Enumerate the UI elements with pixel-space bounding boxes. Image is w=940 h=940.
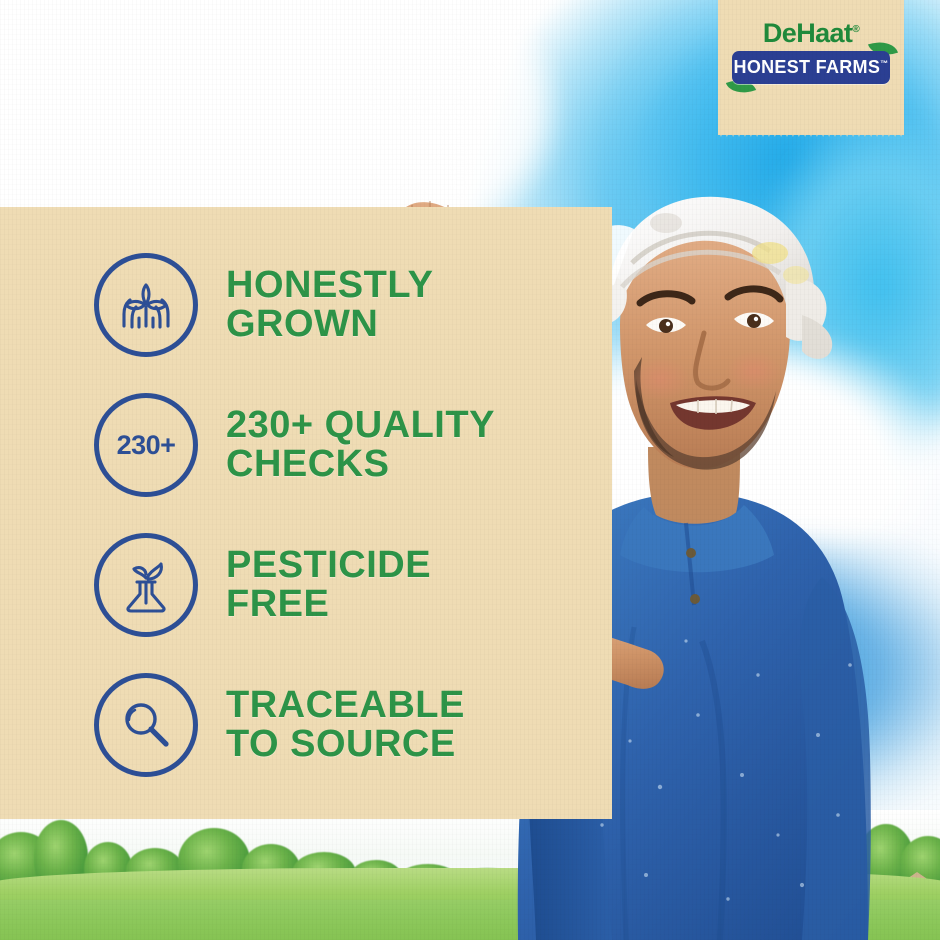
feature-line-1: 230+ QUALITY <box>226 406 495 445</box>
registered-mark: ® <box>852 24 859 35</box>
quality-checks-count-label: 230+ <box>117 430 176 461</box>
quality-checks-count-icon: 230+ <box>94 393 198 497</box>
brand-subname-text: HONEST FARMS™ <box>734 57 889 78</box>
hands-holding-sprout-icon <box>94 253 198 357</box>
feature-list: HONESTLY GROWN 230+ 230+ QUALITY CHECKS <box>0 207 612 819</box>
feature-item-quality-checks: 230+ 230+ QUALITY CHECKS <box>94 393 495 497</box>
feature-item-traceable-to-source: TRACEABLE TO SOURCE <box>94 673 465 777</box>
feature-item-honestly-grown: HONESTLY GROWN <box>94 253 433 357</box>
feature-line-2: CHECKS <box>226 445 495 484</box>
feature-label: HONESTLY GROWN <box>226 266 433 344</box>
brand-subname-banner: HONEST FARMS™ <box>732 51 890 84</box>
brand-logo-card: DeHaat® HONEST FARMS™ <box>718 0 904 135</box>
feature-label: 230+ QUALITY CHECKS <box>226 406 495 484</box>
feature-line-2: TO SOURCE <box>226 725 465 764</box>
feature-line-1: HONESTLY <box>226 266 433 305</box>
feature-line-1: PESTICIDE <box>226 546 431 585</box>
feature-label: PESTICIDE FREE <box>226 546 431 624</box>
trademark-mark: ™ <box>880 59 888 68</box>
poster-canvas: HONESTLY GROWN 230+ 230+ QUALITY CHECKS <box>0 0 940 940</box>
feature-label: TRACEABLE TO SOURCE <box>226 686 465 764</box>
feature-line-2: FREE <box>226 585 431 624</box>
feature-line-1: TRACEABLE <box>226 686 465 725</box>
flask-sprout-icon <box>94 533 198 637</box>
brand-name-text: DeHaat <box>763 18 852 48</box>
feature-item-pesticide-free: PESTICIDE FREE <box>94 533 431 637</box>
magnifying-glass-icon <box>94 673 198 777</box>
brand-logo: DeHaat® HONEST FARMS™ <box>718 0 904 131</box>
brand-subname-label: HONEST FARMS <box>734 57 881 77</box>
feature-line-2: GROWN <box>226 305 433 344</box>
